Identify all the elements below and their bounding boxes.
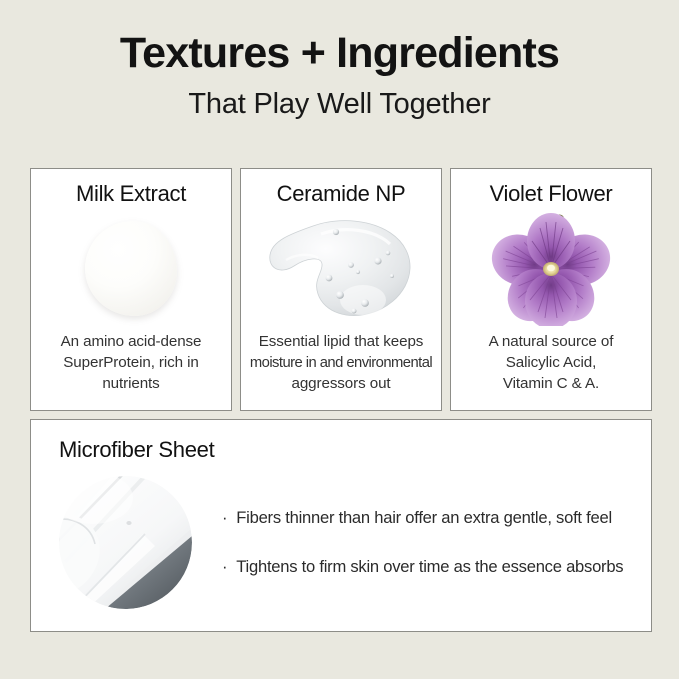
- card-description-line: SuperProtein, rich in: [61, 353, 202, 374]
- card-title: Ceramide NP: [277, 182, 406, 206]
- card-description: Essential lipid that keeps moisture in a…: [250, 332, 432, 394]
- card-artwork: [39, 210, 223, 326]
- card-title: Microfiber Sheet: [59, 438, 629, 462]
- violet-flower-icon: [489, 210, 613, 326]
- card-description-line: nutrients: [61, 374, 202, 395]
- infographic-page: Textures + Ingredients That Play Well To…: [0, 0, 679, 679]
- card-description-line: Salicylic Acid,: [489, 353, 614, 374]
- card-title: Violet Flower: [490, 182, 613, 206]
- card-artwork: [459, 210, 643, 326]
- ingredient-card-violet-flower[interactable]: Violet Flower: [450, 168, 652, 411]
- card-description-line: moisture in and environmental: [250, 353, 432, 373]
- card-description: A natural source of Salicylic Acid, Vita…: [489, 332, 614, 395]
- clear-gel-blob-icon: [266, 216, 416, 320]
- microfiber-bullet-list: · Fibers thinner than hair offer an extr…: [222, 508, 629, 577]
- list-item: · Tightens to firm skin over time as the…: [222, 557, 629, 578]
- card-description-line: Vitamin C & A.: [489, 374, 614, 395]
- header-block: Textures + Ingredients That Play Well To…: [0, 30, 679, 122]
- card-description-line: An amino acid-dense: [61, 332, 202, 353]
- milk-droplet-blob-icon: [85, 221, 177, 316]
- bullet-dot-icon: ·: [222, 508, 227, 529]
- card-artwork: [249, 210, 433, 326]
- card-description: An amino acid-dense SuperProtein, rich i…: [61, 332, 202, 395]
- card-description-line: aggressors out: [250, 374, 432, 395]
- list-item-text: Tightens to firm skin over time as the e…: [236, 557, 623, 578]
- list-item-text: Fibers thinner than hair offer an extra …: [236, 508, 612, 529]
- page-subtitle: That Play Well Together: [0, 88, 679, 121]
- card-title: Milk Extract: [76, 182, 186, 206]
- ingredient-card-row: Milk Extract An amino acid-dense SuperPr…: [30, 168, 652, 411]
- card-description-line: A natural source of: [489, 332, 614, 353]
- list-item: · Fibers thinner than hair offer an extr…: [222, 508, 629, 529]
- ingredient-card-ceramide-np[interactable]: Ceramide NP: [240, 168, 442, 411]
- ingredient-card-milk-extract[interactable]: Milk Extract An amino acid-dense SuperPr…: [30, 168, 232, 411]
- page-title: Textures + Ingredients: [0, 30, 679, 77]
- card-description-line: Essential lipid that keeps: [250, 332, 432, 353]
- microfiber-fabric-closeup-icon: [59, 476, 192, 609]
- bullet-dot-icon: ·: [222, 557, 227, 578]
- microfiber-card-body: · Fibers thinner than hair offer an extr…: [59, 476, 629, 609]
- microfiber-sheet-card[interactable]: Microfiber Sheet: [30, 419, 652, 632]
